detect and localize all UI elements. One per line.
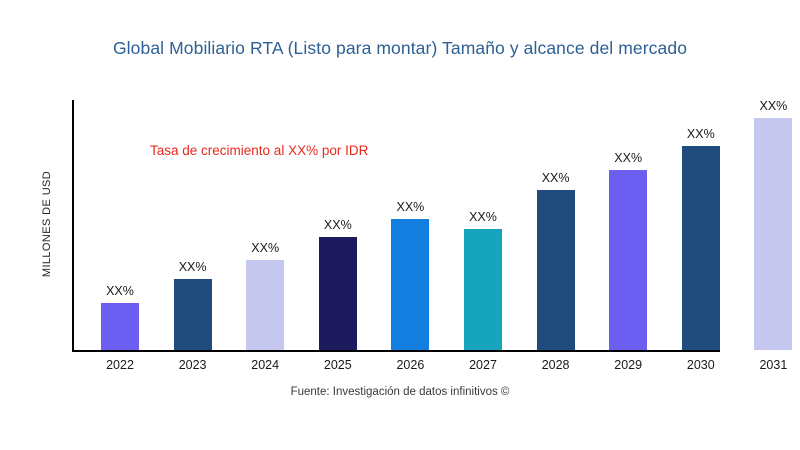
bar-group: XX% bbox=[537, 100, 575, 350]
bar-value-label: XX% bbox=[161, 260, 225, 274]
bar-value-label: XX% bbox=[233, 241, 297, 255]
x-axis-tick-label: 2029 bbox=[596, 358, 660, 372]
y-axis-label: MILLONES DE USD bbox=[41, 94, 53, 354]
bar[interactable] bbox=[319, 237, 357, 350]
bar[interactable] bbox=[391, 219, 429, 350]
bar-value-label: XX% bbox=[524, 171, 588, 185]
x-axis-tick-label: 2022 bbox=[88, 358, 152, 372]
x-axis-line bbox=[72, 350, 720, 352]
bar-value-label: XX% bbox=[741, 99, 800, 113]
bar-group: XX% bbox=[246, 100, 284, 350]
bar-group: XX% bbox=[682, 100, 720, 350]
x-axis-tick-label: 2030 bbox=[669, 358, 733, 372]
bar[interactable] bbox=[101, 303, 139, 350]
bar-value-label: XX% bbox=[451, 210, 515, 224]
bar-group: XX% bbox=[319, 100, 357, 350]
bar[interactable] bbox=[682, 146, 720, 350]
bar-value-label: XX% bbox=[669, 127, 733, 141]
bar-value-label: XX% bbox=[88, 284, 152, 298]
bar-value-label: XX% bbox=[596, 151, 660, 165]
bar[interactable] bbox=[609, 170, 647, 350]
chart-title: Global Mobiliario RTA (Listo para montar… bbox=[0, 38, 800, 59]
x-axis-tick-label: 2025 bbox=[306, 358, 370, 372]
x-axis-tick-label: 2026 bbox=[378, 358, 442, 372]
bar-value-label: XX% bbox=[378, 200, 442, 214]
bar-group: XX% bbox=[464, 100, 502, 350]
bar-group: XX% bbox=[609, 100, 647, 350]
bar[interactable] bbox=[246, 260, 284, 350]
x-axis-tick-label: 2028 bbox=[524, 358, 588, 372]
chart-container: Global Mobiliario RTA (Listo para montar… bbox=[0, 0, 800, 450]
bar-value-label: XX% bbox=[306, 218, 370, 232]
bar-group: XX% bbox=[754, 100, 792, 350]
bar-group: XX% bbox=[101, 100, 139, 350]
x-axis-tick-label: 2023 bbox=[161, 358, 225, 372]
bar-group: XX% bbox=[391, 100, 429, 350]
source-note: Fuente: Investigación de datos infinitiv… bbox=[0, 386, 800, 398]
x-axis-tick-label: 2024 bbox=[233, 358, 297, 372]
plot-area: XX%XX%XX%XX%XX%XX%XX%XX%XX%XX% bbox=[72, 100, 770, 350]
x-axis-tick-label: 2027 bbox=[451, 358, 515, 372]
bar[interactable] bbox=[464, 229, 502, 350]
bar-group: XX% bbox=[174, 100, 212, 350]
bar[interactable] bbox=[754, 118, 792, 350]
bar[interactable] bbox=[537, 190, 575, 350]
bar[interactable] bbox=[174, 279, 212, 350]
x-axis-tick-label: 2031 bbox=[741, 358, 800, 372]
